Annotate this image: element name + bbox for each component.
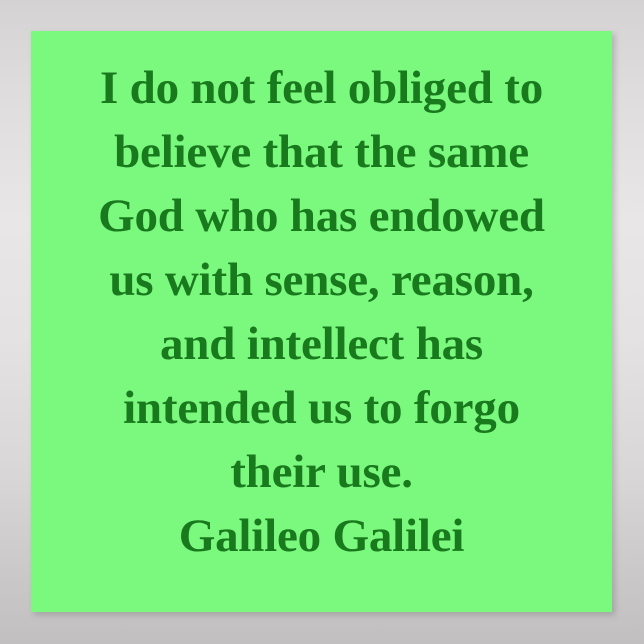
quote-line-6: intended us to forgo bbox=[31, 376, 612, 440]
quote-line-5: and intellect has bbox=[31, 312, 612, 376]
quote-line-1: I do not feel obliged to bbox=[31, 56, 612, 120]
poster-panel: I do not feel obliged to believe that th… bbox=[31, 31, 612, 612]
quote-line-4: us with sense, reason, bbox=[31, 248, 612, 312]
quote-line-3: God who has endowed bbox=[31, 184, 612, 248]
quote-line-2: believe that the same bbox=[31, 120, 612, 184]
quote-block: I do not feel obliged to believe that th… bbox=[31, 31, 612, 568]
quote-line-7: their use. bbox=[31, 440, 612, 504]
poster-canvas: I do not feel obliged to believe that th… bbox=[0, 0, 644, 644]
quote-attribution: Galileo Galilei bbox=[31, 504, 612, 568]
